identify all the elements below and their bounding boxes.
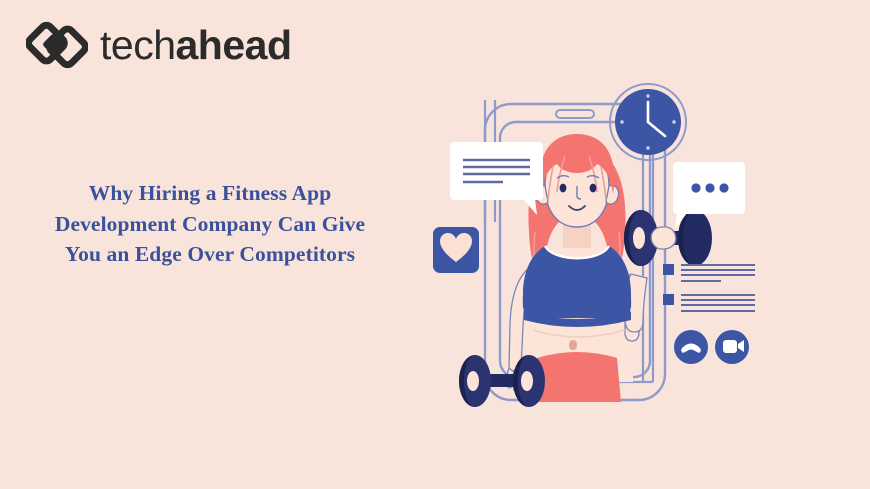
eye-right xyxy=(590,184,597,193)
checklist-bullet-2 xyxy=(663,294,674,305)
illustration-canvas xyxy=(425,82,765,432)
video-call-button[interactable] xyxy=(715,330,749,364)
checklist-lines-1 xyxy=(681,265,755,281)
phone-speaker-icon xyxy=(556,110,594,118)
video-camera-body-icon xyxy=(723,340,737,353)
fitness-app-illustration xyxy=(425,82,765,432)
page-title: Why Hiring a Fitness App Development Com… xyxy=(45,178,375,270)
clock-widget xyxy=(610,84,686,160)
wordmark-tech: tech xyxy=(100,25,176,66)
checklist-lines-2 xyxy=(681,295,755,311)
techahead-logo[interactable]: techahead xyxy=(26,14,292,76)
wordmark-ahead: ahead xyxy=(176,25,292,66)
navel xyxy=(569,340,577,350)
techahead-wordmark: techahead xyxy=(100,25,292,66)
banner: techahead Why Hiring a Fitness App Devel… xyxy=(0,0,870,489)
heart-badge[interactable] xyxy=(433,227,479,273)
shorts xyxy=(533,352,621,402)
typing-dots xyxy=(691,183,728,192)
techahead-logo-mark xyxy=(26,14,88,76)
text-message-bubble xyxy=(450,142,543,215)
hangup-call-button[interactable] xyxy=(674,330,708,364)
checklist-widget xyxy=(663,264,755,311)
eye-left xyxy=(560,184,567,193)
hand-right-grip xyxy=(651,227,676,249)
checklist-bullet-1 xyxy=(663,264,674,275)
